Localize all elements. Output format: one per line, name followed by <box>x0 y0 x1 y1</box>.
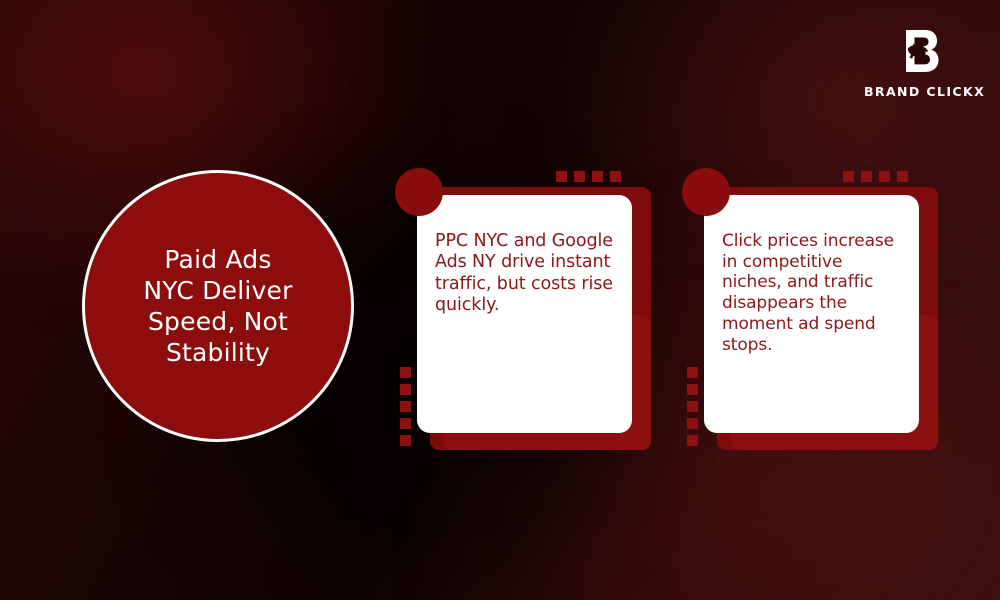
square-dot-icon <box>592 171 603 182</box>
info-card-click-prices: Click prices increase in competitive nic… <box>681 163 943 455</box>
square-dot-icon <box>687 435 698 446</box>
square-dot-icon <box>400 401 411 412</box>
card-accent-circle-icon <box>682 168 730 216</box>
square-dot-icon <box>400 367 411 378</box>
card-left-square-column <box>400 367 411 446</box>
square-dot-icon <box>879 171 890 182</box>
square-dot-icon <box>687 401 698 412</box>
card-top-square-row <box>556 171 621 182</box>
brand-wordmark: BRAND CLICKX <box>864 86 976 99</box>
square-dot-icon <box>687 418 698 429</box>
card-body-text: Click prices increase in competitive nic… <box>722 231 901 355</box>
square-dot-icon <box>556 171 567 182</box>
infographic-canvas: BRAND CLICKX Paid Ads NYC Deliver Speed,… <box>0 0 1000 600</box>
brand-logo: BRAND CLICKX <box>864 26 976 99</box>
square-dot-icon <box>861 171 872 182</box>
square-dot-icon <box>843 171 854 182</box>
card-body-text: PPC NYC and Google Ads NY drive instant … <box>435 231 614 316</box>
square-dot-icon <box>400 384 411 395</box>
square-dot-icon <box>574 171 585 182</box>
card-accent-circle-icon <box>395 168 443 216</box>
square-dot-icon <box>400 435 411 446</box>
hero-circle: Paid Ads NYC Deliver Speed, Not Stabilit… <box>82 170 354 442</box>
square-dot-icon <box>687 384 698 395</box>
card-left-square-column <box>687 367 698 446</box>
card-panel: PPC NYC and Google Ads NY drive instant … <box>417 195 632 433</box>
hero-title: Paid Ads NYC Deliver Speed, Not Stabilit… <box>143 244 292 368</box>
card-top-square-row <box>843 171 908 182</box>
square-dot-icon <box>610 171 621 182</box>
square-dot-icon <box>687 367 698 378</box>
square-dot-icon <box>400 418 411 429</box>
info-card-ppc-speed: PPC NYC and Google Ads NY drive instant … <box>394 163 656 455</box>
card-panel: Click prices increase in competitive nic… <box>704 195 919 433</box>
brand-b-bull-icon <box>892 26 948 82</box>
square-dot-icon <box>897 171 908 182</box>
